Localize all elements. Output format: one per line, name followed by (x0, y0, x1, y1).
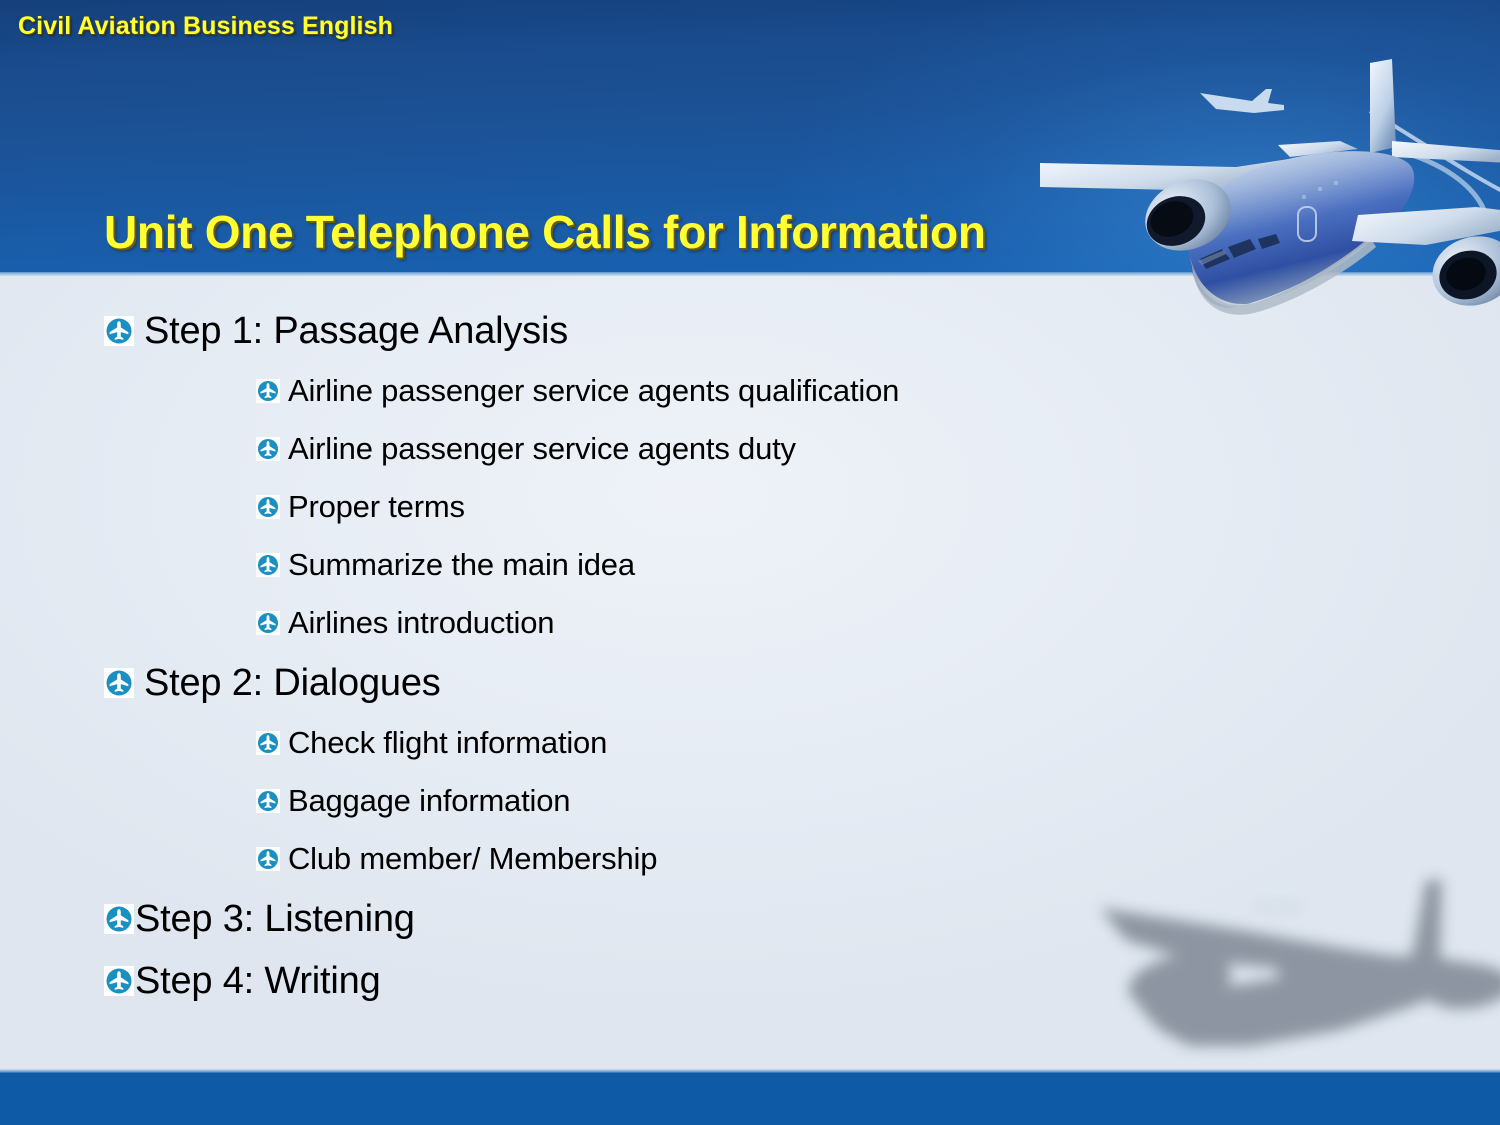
airplane-icon (256, 553, 280, 577)
airplane-icon (256, 495, 280, 519)
outline-item-label: Proper terms (280, 489, 465, 525)
airplane-icon (104, 966, 134, 996)
slide-outline: Step 1: Passage Analysis Airline passeng… (0, 300, 1160, 1012)
outline-item[interactable]: Step 3: Listening (0, 888, 1160, 950)
outline-item[interactable]: Airlines introduction (0, 594, 1160, 652)
airplane-icon (256, 611, 280, 635)
outline-item-label: Airline passenger service agents qualifi… (280, 373, 899, 409)
outline-item[interactable]: Step 4: Writing (0, 950, 1160, 1012)
outline-item-label: Step 4: Writing (134, 960, 381, 1003)
outline-item[interactable]: Airline passenger service agents qualifi… (0, 362, 1160, 420)
airplane-icon (256, 789, 280, 813)
outline-item-label: Summarize the main idea (280, 547, 635, 583)
outline-item[interactable]: Step 1: Passage Analysis (0, 300, 1160, 362)
outline-item[interactable]: Summarize the main idea (0, 536, 1160, 594)
outline-item[interactable]: Club member/ Membership (0, 830, 1160, 888)
outline-item[interactable]: Check flight information (0, 714, 1160, 772)
airplane-icon (256, 847, 280, 871)
airplane-icon (104, 668, 134, 698)
outline-item-label: Check flight information (280, 725, 607, 761)
course-title: Civil Aviation Business English (18, 12, 393, 41)
outline-item[interactable]: Baggage information (0, 772, 1160, 830)
outline-item-label: Step 1: Passage Analysis (134, 310, 568, 353)
outline-item-label: Baggage information (280, 783, 570, 819)
outline-item-label: Airlines introduction (280, 605, 554, 641)
bottom-bar (0, 1073, 1500, 1125)
outline-item-label: Airline passenger service agents duty (280, 431, 796, 467)
airplane-icon (256, 379, 280, 403)
outline-item[interactable]: Proper terms (0, 478, 1160, 536)
outline-item[interactable]: Airline passenger service agents duty (0, 420, 1160, 478)
presentation-slide: Civil Aviation Business English Unit One… (0, 0, 1500, 1125)
outline-item-label: Step 3: Listening (134, 898, 415, 941)
airplane-icon (104, 316, 134, 346)
outline-item-label: Club member/ Membership (280, 841, 657, 877)
airplane-icon (256, 437, 280, 461)
outline-item[interactable]: Step 2: Dialogues (0, 652, 1160, 714)
outline-item-label: Step 2: Dialogues (134, 662, 441, 705)
airplane-icon (104, 904, 134, 934)
airplane-icon (256, 731, 280, 755)
page-title: Unit One Telephone Calls for Information (104, 205, 986, 259)
